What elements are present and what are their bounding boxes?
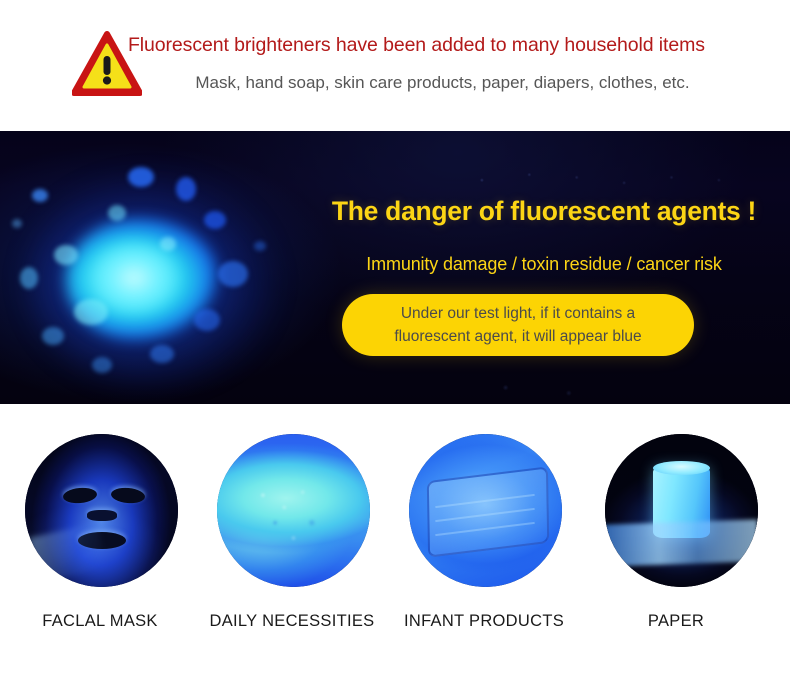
facial-mask-uv-photo [25, 434, 178, 587]
header-subline: Mask, hand soap, skin care products, pap… [128, 59, 783, 96]
gallery-item-infant-products: INFANT PRODUCTS [389, 434, 579, 659]
banner-copy-block: The danger of fluorescent agents ! Immun… [300, 131, 790, 404]
gallery-item-paper: PAPER [581, 434, 771, 659]
callout-line-2: fluorescent agent, it will appear blue [394, 325, 641, 348]
header-text-block: Fluorescent brighteners have been added … [128, 31, 783, 101]
cyan-powder-uv-photo [217, 434, 370, 587]
banner-title: The danger of fluorescent agents ! [300, 196, 788, 227]
danger-banner-section: The danger of fluorescent agents ! Immun… [0, 131, 790, 404]
product-gallery-section: FACLAL MASK DAILY NECESSITIES INFANT PRO… [0, 404, 790, 679]
gallery-caption: PAPER [581, 612, 771, 631]
header-section: Fluorescent brighteners have been added … [0, 0, 790, 131]
test-light-callout: Under our test light, if it contains a f… [342, 294, 694, 356]
header-headline: Fluorescent brighteners have been added … [128, 31, 783, 59]
banner-subtitle: Immunity damage / toxin residue / cancer… [300, 254, 788, 275]
fluorescent-powder-splash-image [8, 149, 298, 399]
gallery-caption: DAILY NECESSITIES [197, 612, 387, 631]
gallery-caption: FACLAL MASK [5, 612, 195, 631]
diaper-uv-photo [409, 434, 562, 587]
toilet-paper-roll-uv-photo [605, 434, 758, 587]
gallery-item-daily-necessities: DAILY NECESSITIES [197, 434, 387, 659]
gallery-item-facial-mask: FACLAL MASK [5, 434, 195, 659]
callout-line-1: Under our test light, if it contains a [401, 302, 635, 325]
gallery-caption: INFANT PRODUCTS [389, 612, 579, 631]
